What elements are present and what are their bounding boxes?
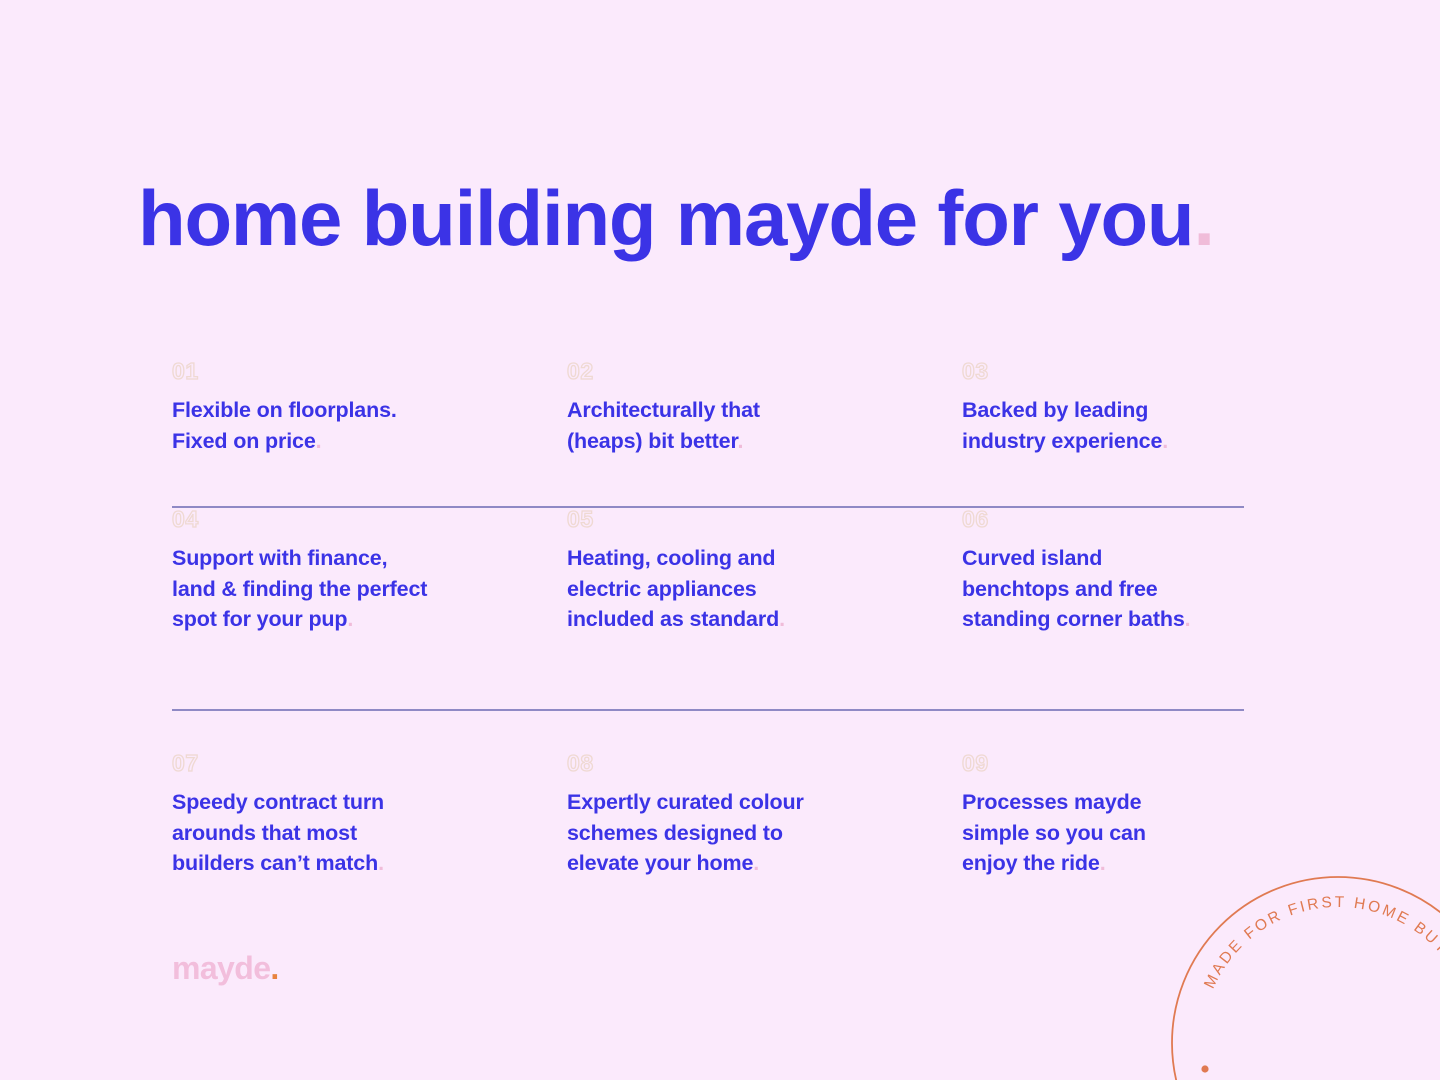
feature-number: 02 <box>567 360 962 383</box>
feature-period: . <box>347 607 353 631</box>
feature-item-01: 01 Flexible on floorplans. Fixed on pric… <box>172 360 567 508</box>
feature-body: Speedy contract turn arounds that most b… <box>172 787 567 879</box>
feature-item-04: 04 Support with finance, land & finding … <box>172 508 567 711</box>
feature-item-08: 08 Expertly curated colour schemes desig… <box>567 752 962 879</box>
feature-number: 08 <box>567 752 962 775</box>
feature-body: Processes mayde simple so you can enjoy … <box>962 787 1146 879</box>
feature-body-text: Speedy contract turn arounds that most b… <box>172 790 384 875</box>
feature-body-text: Processes mayde simple so you can enjoy … <box>962 790 1146 875</box>
feature-item-09: 09 Processes mayde simple so you can enj… <box>962 752 1146 879</box>
badge-curved-text-top: MADE FOR FIRST HOME BUYERS <box>1201 894 1440 991</box>
feature-item-03: 03 Backed by leading industry experience… <box>962 360 1357 508</box>
feature-period: . <box>753 851 759 875</box>
made-for-first-home-buyers-badge: MADE FOR FIRST HOME BUYERS MAYDE <box>1168 873 1440 1080</box>
feature-row-1: 01 Flexible on floorplans. Fixed on pric… <box>172 360 1244 508</box>
feature-body: Expertly curated colour schemes designed… <box>567 787 962 879</box>
feature-body-text: Curved island benchtops and free standin… <box>962 546 1185 631</box>
slide-canvas: home building mayde for you. 01 Flexible… <box>0 0 1440 1080</box>
feature-number: 05 <box>567 508 962 531</box>
feature-item-02: 02 Architecturally that (heaps) bit bett… <box>567 360 962 508</box>
brand-logo: mayde. <box>172 952 279 984</box>
feature-period: . <box>738 429 744 453</box>
feature-grid: 01 Flexible on floorplans. Fixed on pric… <box>172 360 1244 879</box>
feature-body-text: Backed by leading industry experience <box>962 398 1162 453</box>
feature-number: 07 <box>172 752 567 775</box>
feature-body: Support with finance, land & finding the… <box>172 543 567 635</box>
brand-logo-period: . <box>270 950 278 986</box>
brand-logo-text: mayde <box>172 950 270 986</box>
page-title-text: home building mayde for you <box>138 174 1193 262</box>
page-title: home building mayde for you. <box>138 179 1214 257</box>
feature-period: . <box>1185 607 1191 631</box>
feature-body-text: Expertly curated colour schemes designed… <box>567 790 804 875</box>
feature-body: Curved island benchtops and free standin… <box>962 543 1357 635</box>
feature-body-text: Flexible on floorplans. Fixed on price <box>172 398 397 453</box>
feature-number: 03 <box>962 360 1357 383</box>
feature-item-07: 07 Speedy contract turn arounds that mos… <box>172 752 567 879</box>
feature-number: 06 <box>962 508 1357 531</box>
page-title-period: . <box>1193 174 1213 262</box>
feature-period: . <box>378 851 384 875</box>
feature-body-text: Heating, cooling and electric appliances… <box>567 546 779 631</box>
feature-period: . <box>316 429 322 453</box>
feature-body-text: Support with finance, land & finding the… <box>172 546 427 631</box>
feature-number: 09 <box>962 752 1146 775</box>
feature-period: . <box>1162 429 1168 453</box>
badge-bullet-separator <box>1201 1065 1208 1072</box>
feature-body: Heating, cooling and electric appliances… <box>567 543 962 635</box>
feature-row-3: 07 Speedy contract turn arounds that mos… <box>172 711 1244 879</box>
feature-row-2: 04 Support with finance, land & finding … <box>172 508 1244 711</box>
badge-curved-text-top-path: MADE FOR FIRST HOME BUYERS <box>1201 894 1440 991</box>
feature-period: . <box>779 607 785 631</box>
feature-body: Backed by leading industry experience. <box>962 395 1357 456</box>
feature-period: . <box>1100 851 1106 875</box>
feature-body-text: Architecturally that (heaps) bit better <box>567 398 760 453</box>
feature-number: 04 <box>172 508 567 531</box>
feature-item-06: 06 Curved island benchtops and free stan… <box>962 508 1357 711</box>
feature-item-05: 05 Heating, cooling and electric applian… <box>567 508 962 711</box>
feature-body: Architecturally that (heaps) bit better. <box>567 395 962 456</box>
feature-number: 01 <box>172 360 567 383</box>
feature-body: Flexible on floorplans. Fixed on price. <box>172 395 567 456</box>
